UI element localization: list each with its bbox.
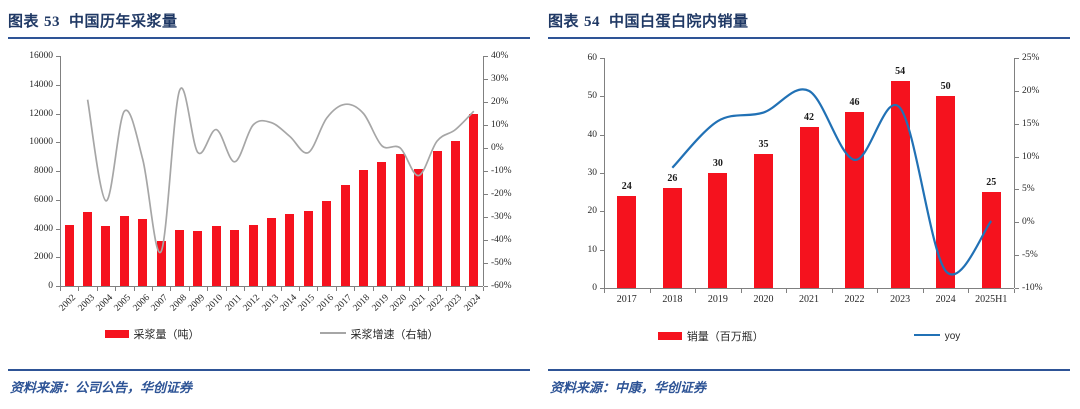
figure-panel-54: 图表54中国白蛋白院内销量 0102030405060-10%-5%0%5%10… <box>540 0 1080 409</box>
chart-legend: 采浆量（吨）采浆增速（右轴） <box>60 326 483 342</box>
x-axis-tick-label: 2020 <box>737 294 789 305</box>
legend-label: 采浆量（吨） <box>134 326 200 342</box>
legend-line-swatch <box>914 334 940 336</box>
figure-53-heading: 图表53中国历年采浆量 <box>8 10 178 31</box>
legend-bar-swatch <box>658 332 682 340</box>
legend-label: 采浆增速（右轴） <box>351 326 439 342</box>
x-axis-tick-label: 2024 <box>920 294 972 305</box>
legend-label: 销量（百万瓶） <box>687 328 764 344</box>
x-axis-tick-label: 2019 <box>692 294 744 305</box>
plot-area: 0102030405060-10%-5%0%5%10%15%20%25%2426… <box>562 48 1062 348</box>
legend-item[interactable]: 销量（百万瓶） <box>658 328 764 344</box>
chart-54-canvas: 0102030405060-10%-5%0%5%10%15%20%25%2426… <box>562 48 1062 348</box>
legend-line-swatch <box>320 332 346 334</box>
figure-53-top-rule <box>8 37 530 39</box>
legend-label: yoy <box>945 331 961 342</box>
chart-53-canvas: 0200040006000800010000120001400016000-60… <box>18 48 523 348</box>
plot-area: 0200040006000800010000120001400016000-60… <box>18 48 523 348</box>
figure-54-number: 54 <box>584 14 600 30</box>
legend-item[interactable]: yoy <box>914 331 961 342</box>
legend-item[interactable]: 采浆量（吨） <box>105 326 200 342</box>
report-figures-sheet: 图表53中国历年采浆量 0200040006000800010000120001… <box>0 0 1080 409</box>
trend-line <box>672 89 991 274</box>
x-axis-tick-label: 2018 <box>646 294 698 305</box>
figure-54-label: 图表 <box>548 14 579 30</box>
x-axis-tick-label: 2017 <box>601 294 653 305</box>
figure-panel-53: 图表53中国历年采浆量 0200040006000800010000120001… <box>0 0 540 409</box>
figure-53-source: 资料来源：公司公告，华创证券 <box>10 377 192 396</box>
figure-53-bottom-rule <box>8 369 530 371</box>
x-axis-tick-label: 2023 <box>874 294 926 305</box>
figure-54-heading: 图表54中国白蛋白院内销量 <box>548 10 749 31</box>
figure-54-bottom-rule <box>548 369 1070 371</box>
trend-line <box>88 88 474 253</box>
figure-54-source: 资料来源：中康，华创证券 <box>550 377 706 396</box>
figure-53-label: 图表 <box>8 14 39 30</box>
x-axis-tick-label: 2025H1 <box>965 294 1017 305</box>
figure-54-title: 中国白蛋白院内销量 <box>609 14 749 30</box>
chart-legend: 销量（百万瓶）yoy <box>604 328 1014 344</box>
figure-53-number: 53 <box>44 14 60 30</box>
figure-53-title: 中国历年采浆量 <box>69 14 178 30</box>
x-axis-tick-label: 2022 <box>829 294 881 305</box>
figure-54-top-rule <box>548 37 1070 39</box>
legend-bar-swatch <box>105 330 129 338</box>
x-axis-tick-label: 2021 <box>783 294 835 305</box>
legend-item[interactable]: 采浆增速（右轴） <box>320 326 439 342</box>
